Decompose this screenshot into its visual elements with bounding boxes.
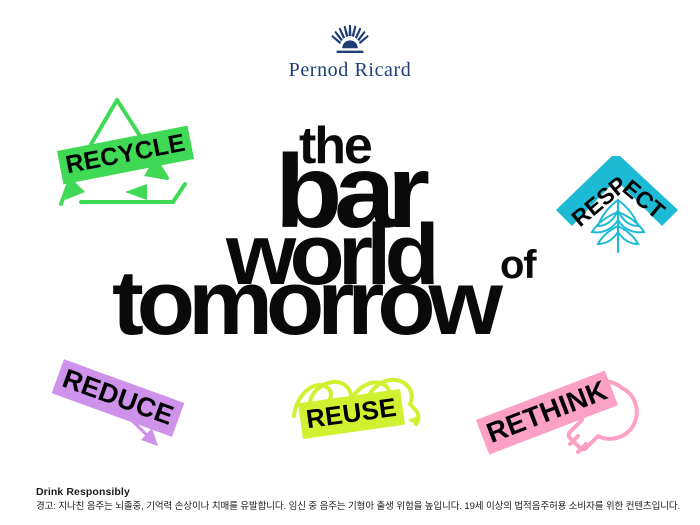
headline-word-bar: bar: [275, 152, 422, 233]
badge-recycle: RECYCLE: [55, 92, 205, 217]
badge-reuse: REUSE: [282, 368, 432, 444]
headline-word-of: of: [500, 250, 535, 281]
brand-logo: Pernod Ricard: [0, 24, 700, 80]
sunburst-icon: [328, 24, 372, 56]
brand-name: Pernod Ricard: [0, 60, 700, 80]
footer-title: Drink Responsibly: [36, 486, 676, 498]
headline-word-the: the: [299, 126, 371, 167]
badge-respect: RESP ECT: [552, 148, 690, 263]
poster-canvas: Pernod Ricard the bar world of tomorrow …: [0, 0, 700, 525]
headline-word-world: world: [226, 222, 433, 289]
badge-rethink: RETHINK: [472, 358, 652, 468]
headline-word-tomorrow: tomorrow: [112, 268, 496, 340]
footer: Drink Responsibly 경고: 지나친 음주는 뇌졸중, 기억력 손…: [36, 486, 676, 513]
footer-warning-text: 경고: 지나친 음주는 뇌졸중, 기억력 손상이나 치매를 유발합니다. 임신 …: [36, 501, 676, 513]
badge-reduce: REDUCE: [40, 360, 200, 460]
